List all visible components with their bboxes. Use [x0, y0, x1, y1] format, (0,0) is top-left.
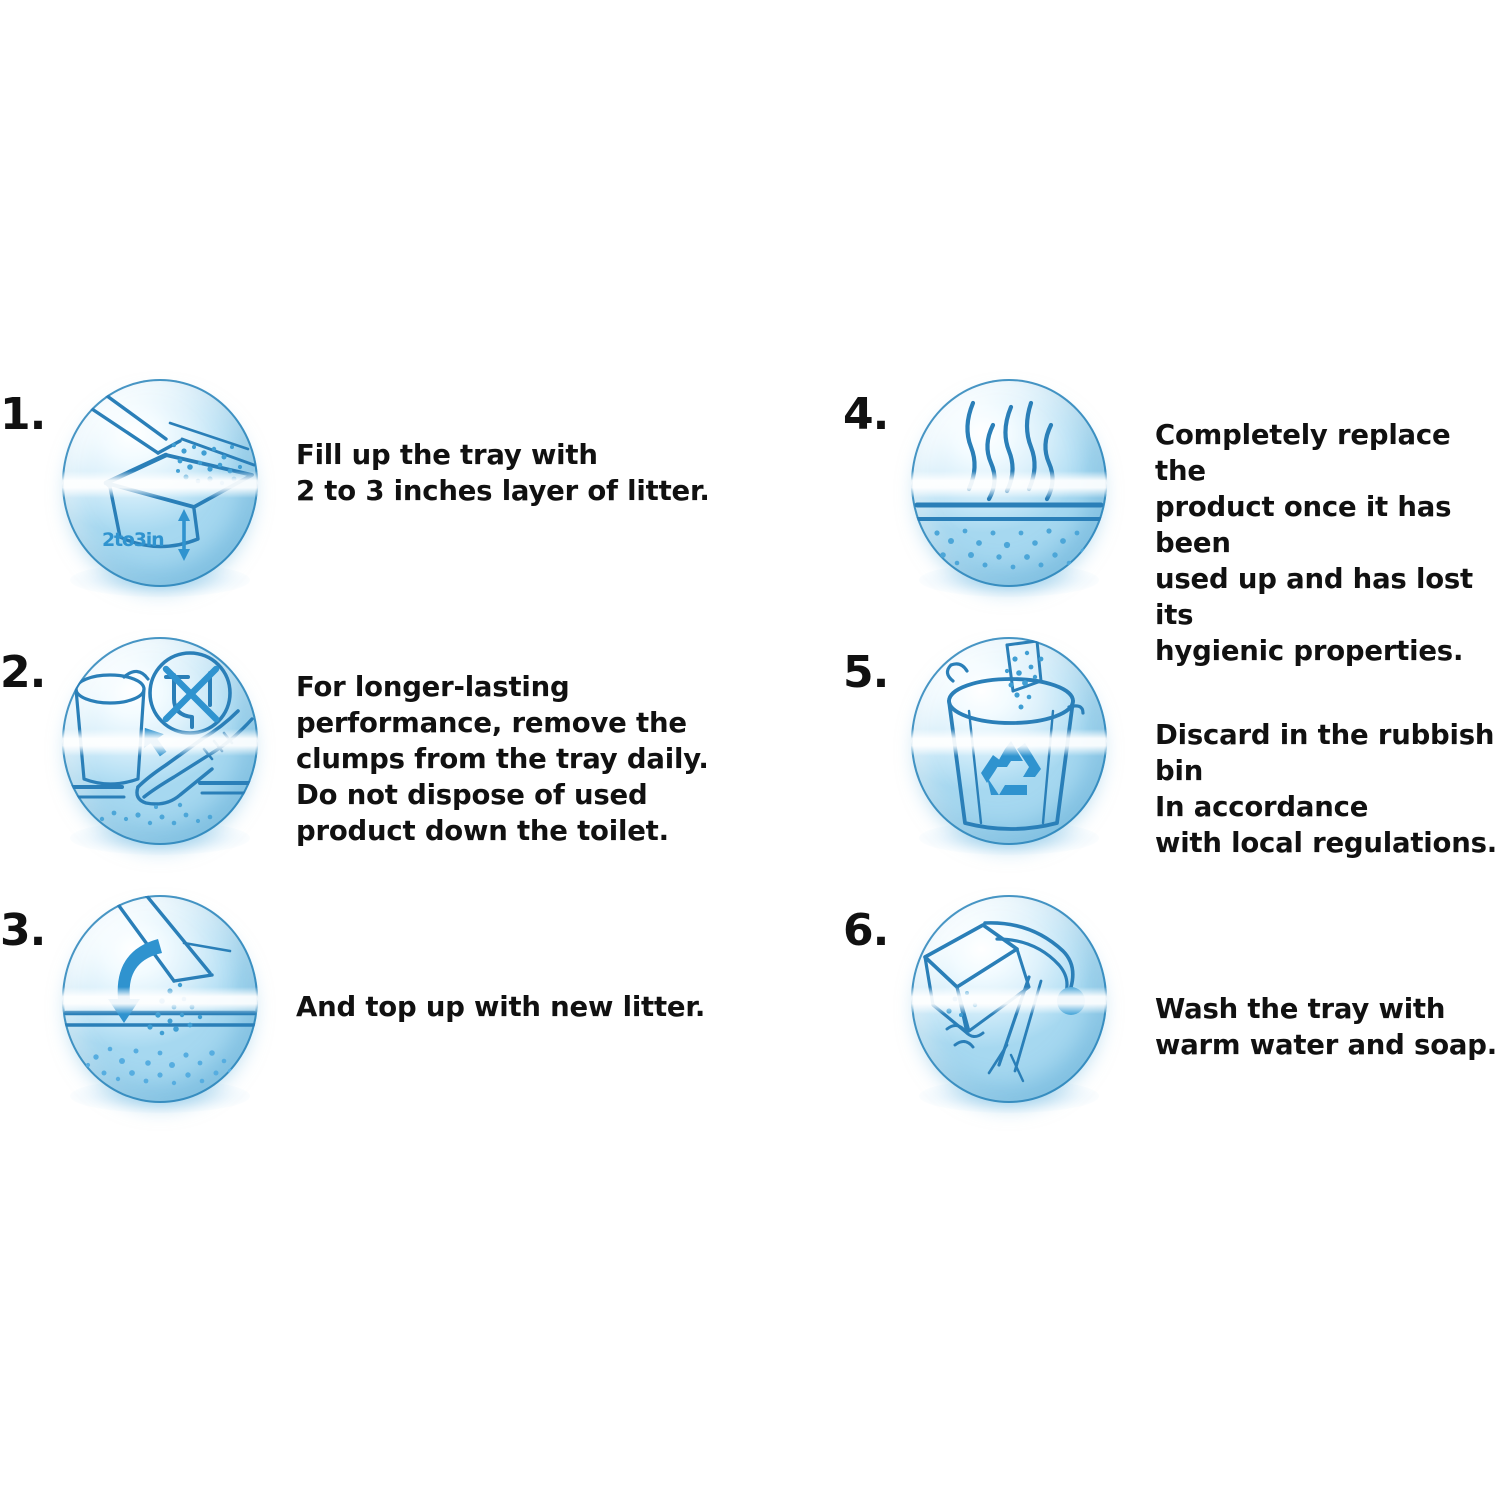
bubble-sphere	[911, 637, 1107, 845]
step-caption-4: Completely replace the product once it h…	[1113, 375, 1500, 669]
steps-column-left: 1.	[0, 375, 760, 1149]
step-number-6: 6.	[835, 891, 905, 953]
bubble-sphere	[911, 379, 1107, 587]
instruction-diagram: 1.	[0, 0, 1500, 1500]
step-item-2: 2.	[0, 633, 760, 891]
bubble-sphere: 2to3in	[62, 379, 258, 587]
step-number-2: 2.	[0, 633, 56, 695]
step-icon-4	[905, 375, 1113, 593]
step-icon-2	[56, 633, 264, 851]
step-item-6: 6.	[835, 891, 1500, 1149]
step-icon-1: 2to3in	[56, 375, 264, 593]
step-item-1: 1.	[0, 375, 760, 633]
step-item-5: 5.	[835, 633, 1500, 891]
top-up-new-litter-icon	[62, 895, 258, 1103]
step-caption-3: And top up with new litter.	[264, 891, 760, 1025]
scoop-clumps-no-toilet-icon	[62, 637, 258, 845]
step-number-4: 4.	[835, 375, 905, 437]
step-caption-6: Wash the tray with warm water and soap.	[1113, 891, 1500, 1063]
step-number-5: 5.	[835, 633, 905, 695]
bubble-sphere	[62, 637, 258, 845]
measurement-label: 2to3in	[102, 529, 163, 551]
step-number-3: 3.	[0, 891, 56, 953]
step-item-3: 3.	[0, 891, 760, 1149]
step-caption-1: Fill up the tray with 2 to 3 inches laye…	[264, 375, 760, 509]
step-icon-5	[905, 633, 1113, 851]
litter-tray-filling-icon	[62, 379, 258, 587]
step-caption-5: Discard in the rubbish bin In accordance…	[1113, 633, 1500, 861]
odour-lines-used-litter-icon	[911, 379, 1107, 587]
wash-tray-faucet-icon	[911, 895, 1107, 1103]
step-icon-6	[905, 891, 1113, 1109]
bubble-sphere	[62, 895, 258, 1103]
bubble-sphere	[911, 895, 1107, 1103]
step-icon-3	[56, 891, 264, 1109]
step-caption-2: For longer-lasting performance, remove t…	[264, 633, 760, 849]
step-number-1: 1.	[0, 375, 56, 437]
steps-column-right: 4.	[835, 375, 1500, 1149]
step-item-4: 4.	[835, 375, 1500, 633]
rubbish-bin-recycle-icon	[911, 637, 1107, 845]
